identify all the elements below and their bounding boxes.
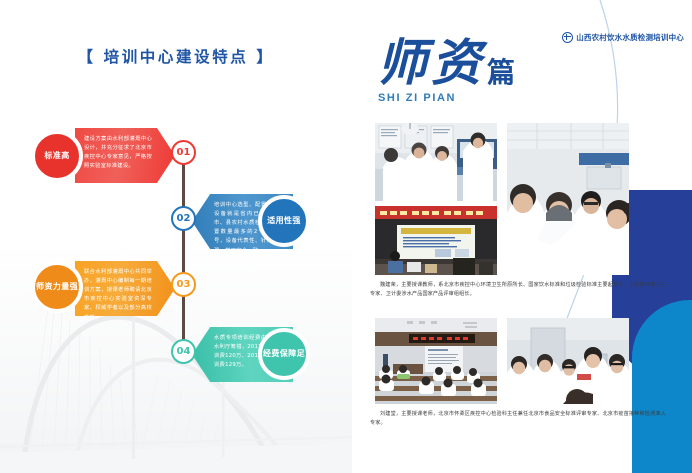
- left-panel-title: 【 培训中心建设特点 】: [0, 45, 352, 67]
- photo-lecture-hall: [375, 318, 497, 404]
- photo-projector-classroom: [375, 206, 497, 275]
- timeline-badge-01: 01: [171, 140, 196, 165]
- feature-tag-2: 适用性强: [258, 195, 310, 247]
- feature-tag-3: 师资力量强: [31, 261, 83, 313]
- page-title: 师资篇: [377, 38, 515, 91]
- page-title-pinyin: SHI ZI PIAN: [378, 92, 456, 104]
- right-panel: 山西农村饮水水质检测培训中心 师资篇 SHI ZI PIAN: [352, 0, 692, 473]
- photo-lab-instruction: [375, 123, 497, 201]
- photo-caption-1: 魏建荣，主要授课教师，系北京市疾控中心环境卫生所原所长、国家饮水标准和垃圾检验标…: [370, 281, 666, 300]
- brand-logo-icon: [562, 32, 573, 43]
- feature-tag-1: 标准高: [31, 130, 83, 182]
- feature-banner-1-text: 建设方案由水利部灌溉中心设计，并充分征求了北京市疾控中心专家意见，严格按照实验室…: [84, 135, 152, 171]
- photo-expert-group: [507, 123, 629, 275]
- timeline-badge-02: 02: [171, 206, 196, 231]
- timeline-spine: [182, 150, 185, 358]
- timeline-badge-03: 03: [171, 272, 196, 297]
- page-title-sub: 篇: [487, 51, 515, 91]
- feature-banner-1: 建设方案由水利部灌溉中心设计，并充分征求了北京市疾控中心专家意见，严格按照实验室…: [75, 128, 175, 183]
- feature-banner-3: 联合水利部灌溉中心共同举办，灌溉中心编制每一期培训方案，授课老师聘请北京市疾控中…: [75, 261, 175, 316]
- infographic-page: 【 培训中心建设特点 】 01 02 03 04 建设方案由水利部灌溉中心设计，…: [0, 0, 692, 473]
- photo-lab-practice: [507, 318, 629, 404]
- left-panel: 【 培训中心建设特点 】 01 02 03 04 建设方案由水利部灌溉中心设计，…: [0, 0, 352, 473]
- brand-lockup: 山西农村饮水水质检测培训中心: [562, 32, 684, 43]
- decor-lightblue-block: [632, 300, 692, 473]
- photo-caption-2: 刘建堂，主要授课老师，北京市怀柔区疾控中心检验科主任兼任北京市食品安全标准评审专…: [370, 410, 666, 429]
- brand-name: 山西农村饮水水质检测培训中心: [576, 32, 684, 43]
- feature-banner-3-text: 联合水利部灌溉中心共同举办，灌溉中心编制每一期培训方案，授课老师聘请北京市疾控中…: [84, 268, 152, 323]
- timeline-badge-04: 04: [171, 339, 196, 364]
- feature-tag-4: 经费保障足: [258, 328, 310, 380]
- page-title-main: 师资: [377, 38, 485, 88]
